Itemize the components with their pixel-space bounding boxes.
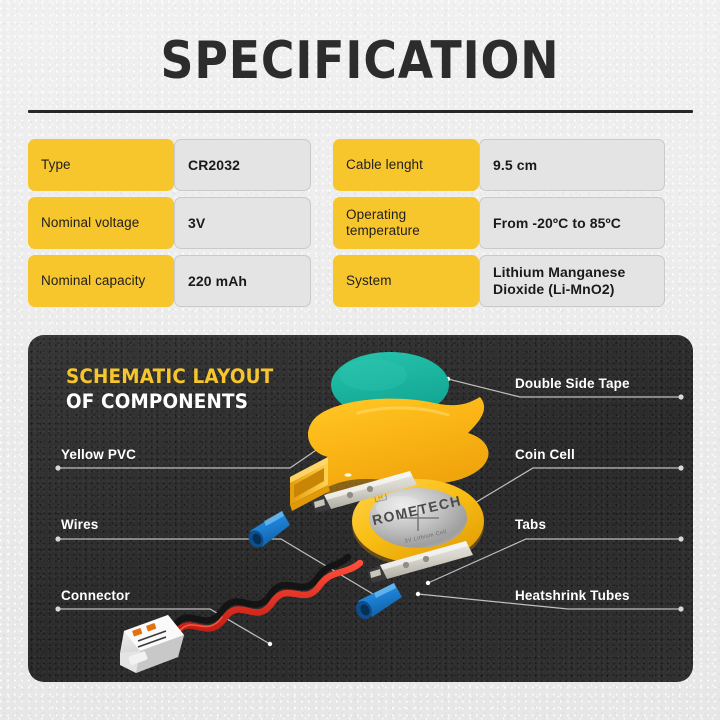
spec-label-operating-temperature: Operating temperature: [333, 197, 479, 249]
component-connector: [120, 615, 184, 673]
spec-label-system: System: [333, 255, 479, 307]
spec-label-nominal-capacity: Nominal capacity: [28, 255, 174, 307]
spec-value-text: 3V: [188, 215, 205, 232]
spec-label-text: Nominal voltage: [41, 215, 139, 231]
column-gap: [311, 139, 333, 191]
page-title: SPECIFICATION: [43, 32, 677, 90]
column-gap: [311, 255, 333, 307]
component-heatshrink-lower: [353, 583, 402, 622]
spec-value-text: Lithium Manganese Dioxide (Li-MnO2): [493, 264, 651, 298]
schematic-panel: SCHEMATIC LAYOUT OF COMPONENTS Yellow PV…: [28, 335, 693, 682]
spec-label-nominal-voltage: Nominal voltage: [28, 197, 174, 249]
spec-label-text: Operating temperature: [346, 207, 466, 239]
spec-value-cable-lenght: 9.5 cm: [479, 139, 665, 191]
spec-value-system: Lithium Manganese Dioxide (Li-MnO2): [479, 255, 665, 307]
spec-label-text: Type: [41, 157, 71, 173]
spec-value-nominal-capacity: 220 mAh: [174, 255, 311, 307]
title-divider: [28, 110, 693, 113]
spec-label-cable-lenght: Cable lenght: [333, 139, 479, 191]
component-heatshrink-upper: [246, 511, 290, 550]
spec-value-text: CR2032: [188, 157, 240, 174]
spec-value-type: CR2032: [174, 139, 311, 191]
spec-value-text: 220 mAh: [188, 273, 247, 290]
spec-value-nominal-voltage: 3V: [174, 197, 311, 249]
spec-value-text: From -20ºC to 85ºC: [493, 215, 621, 232]
spec-label-text: Cable lenght: [346, 157, 423, 173]
column-gap: [311, 197, 333, 249]
spec-label-text: Nominal capacity: [41, 273, 145, 289]
component-wires: [174, 557, 360, 635]
spec-label-type: Type: [28, 139, 174, 191]
specification-table: Type CR2032 Cable lenght 9.5 cm Nominal …: [28, 139, 693, 307]
spec-value-text: 9.5 cm: [493, 157, 537, 174]
spec-label-text: System: [346, 273, 392, 289]
exploded-view-illustration: ROMETECH 3V Lithium Cell R: [28, 335, 693, 682]
spec-value-operating-temperature: From -20ºC to 85ºC: [479, 197, 665, 249]
